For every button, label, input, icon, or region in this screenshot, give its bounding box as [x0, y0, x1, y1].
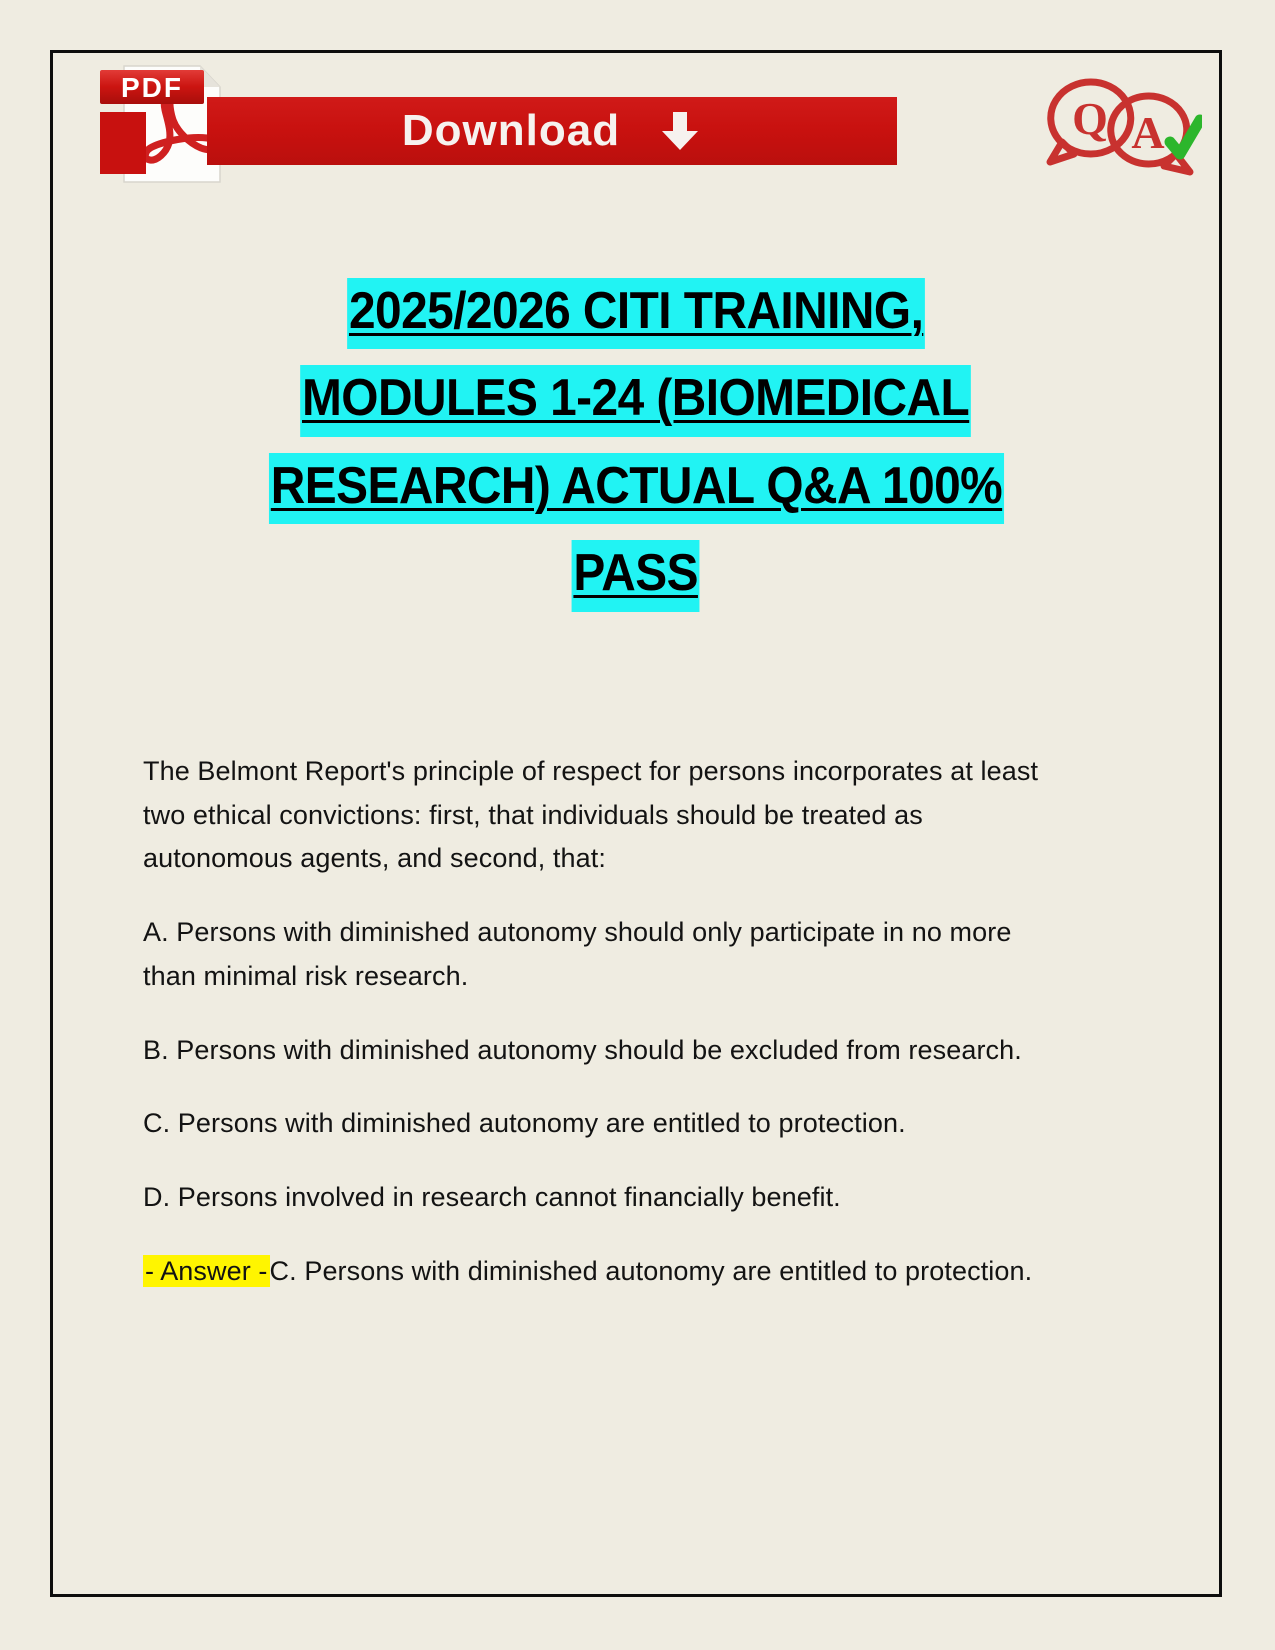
- option-c: C. Persons with diminished autonomy are …: [143, 1102, 1063, 1146]
- title-line-1-text: 2025/2026 CITI TRAINING,: [347, 278, 925, 349]
- title-line-4-text: PASS: [572, 540, 700, 611]
- option-d: D. Persons involved in research cannot f…: [143, 1176, 1063, 1220]
- header-banner-row: PDF Download Q A: [52, 52, 1220, 202]
- option-a: A. Persons with diminished autonomy shou…: [143, 911, 1063, 998]
- title-line-3: RESEARCH) ACTUAL Q&A 100%: [110, 453, 1162, 524]
- question-content: The Belmont Report's principle of respec…: [143, 750, 1063, 1294]
- question-stem: The Belmont Report's principle of respec…: [143, 750, 1063, 881]
- svg-text:PDF: PDF: [121, 72, 183, 103]
- title-line-3-text: RESEARCH) ACTUAL Q&A 100%: [268, 453, 1003, 524]
- answer-marker: - Answer -: [143, 1255, 270, 1287]
- qa-logo-q: Q: [1072, 93, 1108, 144]
- qa-logo: Q A: [1034, 70, 1202, 188]
- title-line-4: PASS: [110, 540, 1162, 611]
- download-label: Download: [402, 109, 620, 153]
- answer-text: C. Persons with diminished autonomy are …: [270, 1256, 1033, 1286]
- title-line-2: MODULES 1-24 (BIOMEDICAL: [110, 365, 1162, 436]
- download-arrow-icon: [658, 109, 702, 153]
- download-banner[interactable]: Download: [207, 97, 897, 165]
- page-title: 2025/2026 CITI TRAINING, MODULES 1-24 (B…: [110, 278, 1162, 612]
- title-line-2-text: MODULES 1-24 (BIOMEDICAL: [301, 365, 972, 436]
- title-line-1: 2025/2026 CITI TRAINING,: [110, 278, 1162, 349]
- answer-line: - Answer -C. Persons with diminished aut…: [143, 1250, 1063, 1294]
- document-page: PDF Download Q A 2025/2026 CITI: [0, 0, 1275, 1650]
- qa-logo-a: A: [1131, 107, 1164, 158]
- option-b: B. Persons with diminished autonomy shou…: [143, 1029, 1063, 1073]
